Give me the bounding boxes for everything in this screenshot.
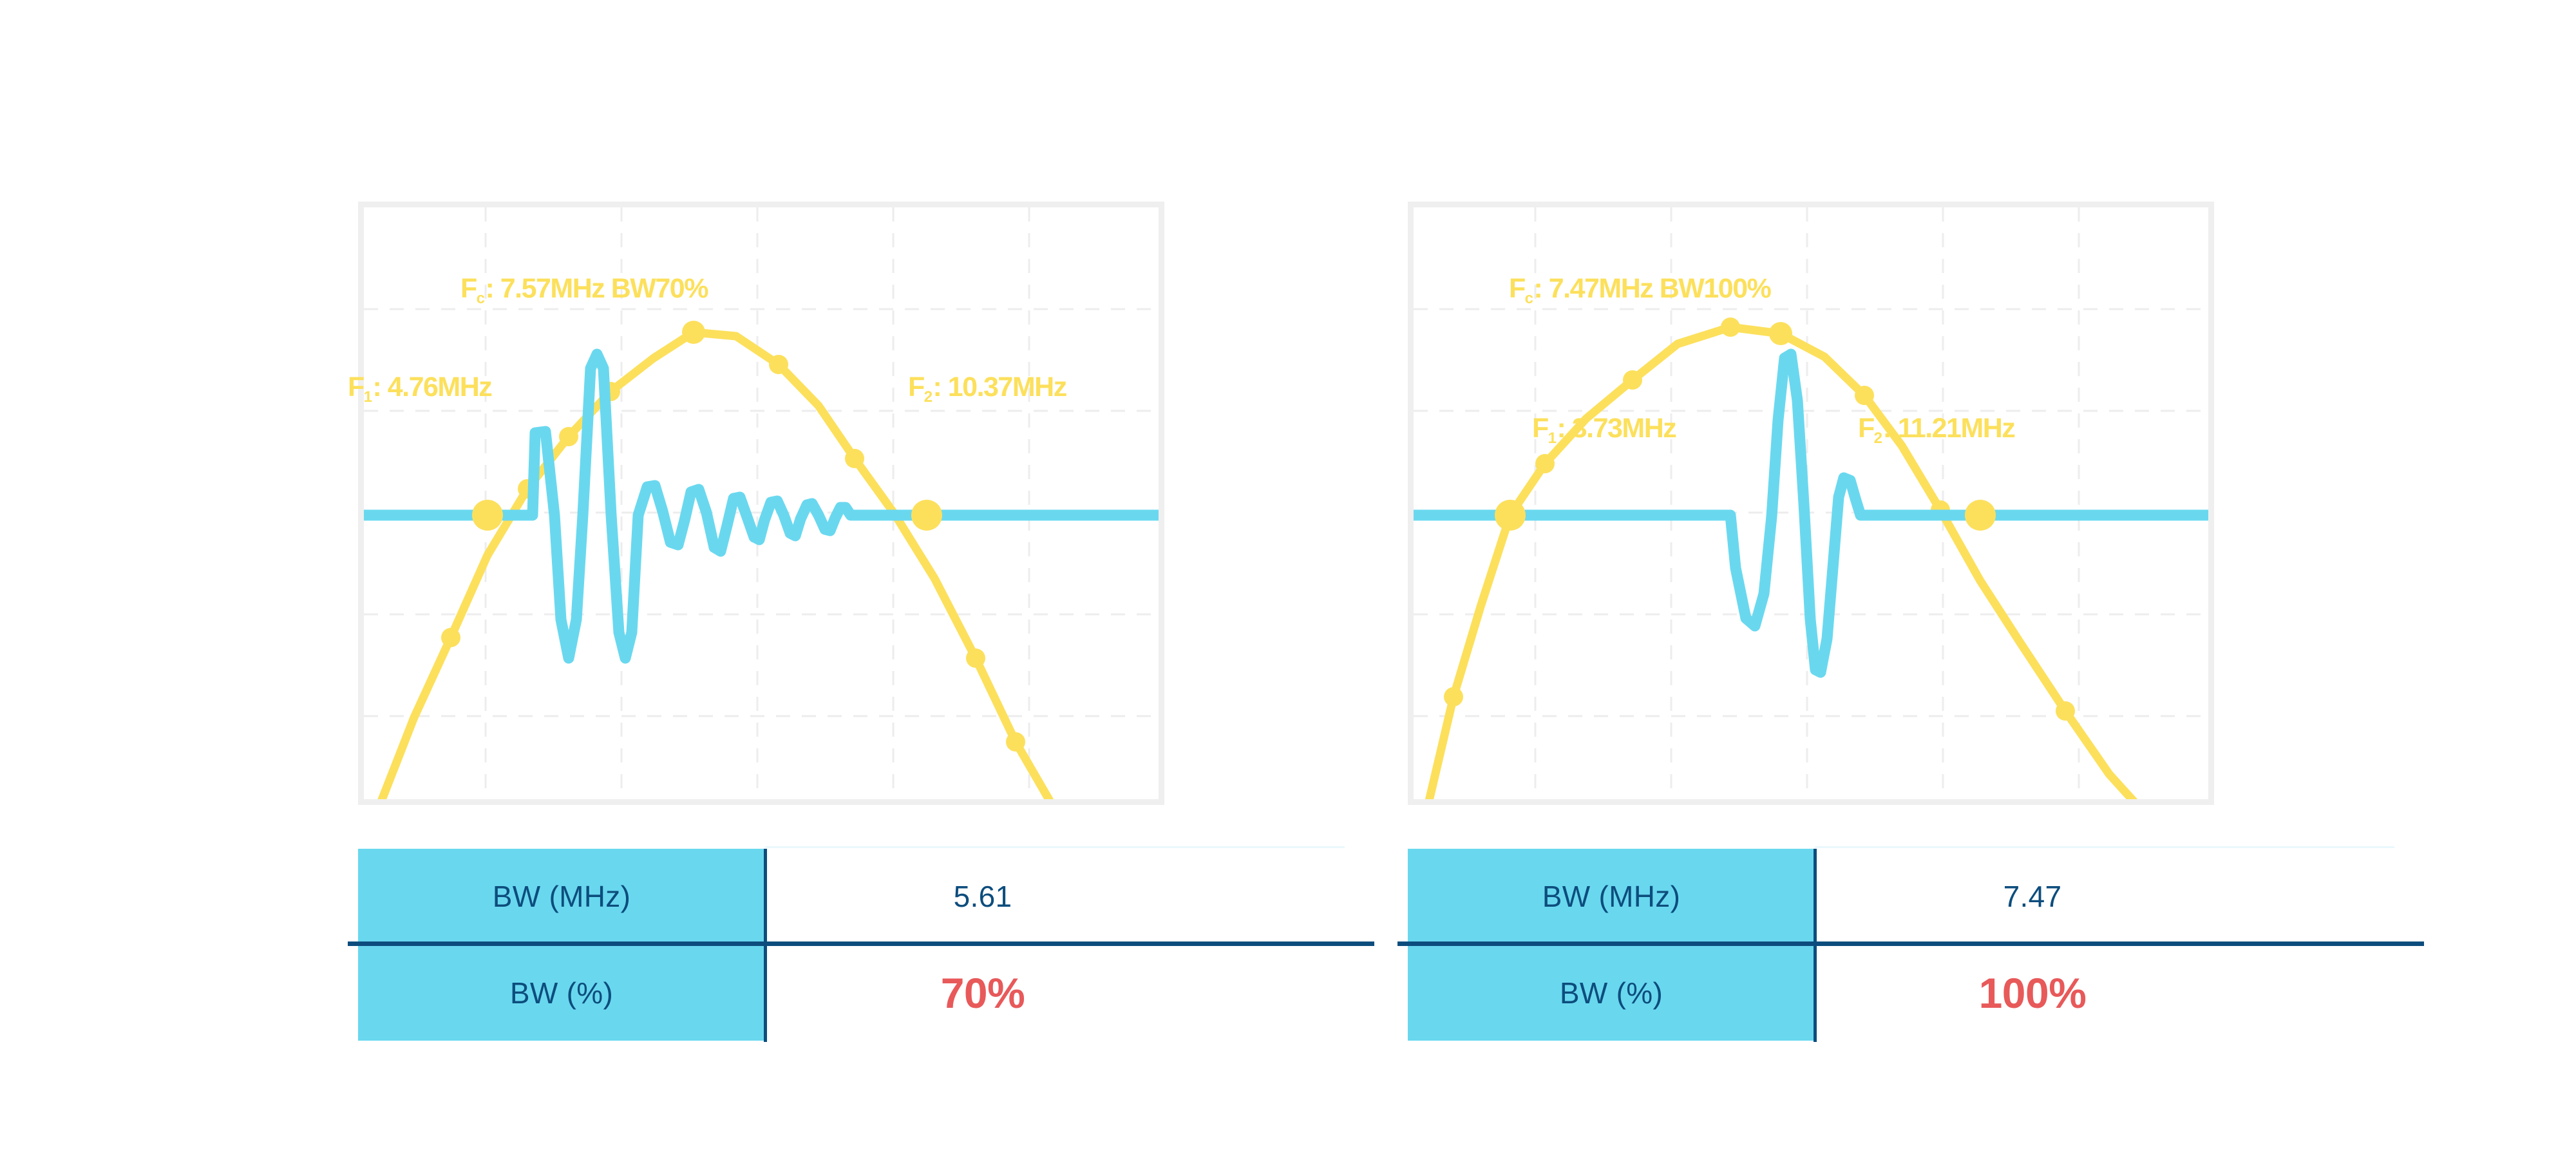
f1-text: : 3.73MHz bbox=[1557, 413, 1676, 444]
annotation-upper-cutoff-right: F2: 11.21MHz bbox=[1858, 415, 2014, 442]
fc-symbol: F bbox=[460, 273, 477, 304]
f1-subscript: 1 bbox=[1548, 430, 1557, 447]
marker-f2 bbox=[1965, 500, 1996, 531]
row-value-bw-percent: 100% bbox=[1815, 945, 2424, 1041]
row-label-bw-mhz: BW (MHz) bbox=[1408, 849, 1815, 944]
annotation-upper-cutoff-left: F2: 10.37MHz bbox=[908, 374, 1066, 401]
row-label-bw-mhz: BW (MHz) bbox=[358, 849, 765, 944]
marker-f1 bbox=[472, 500, 503, 531]
measurement-panel-left: Fc: 7.57MHz BW70% F1: 4.76MHz F2: 10.37M… bbox=[193, 0, 1417, 1154]
annotation-center-frequency-right: Fc: 7.47MHz BW100% bbox=[1509, 275, 1770, 303]
table-row: BW (%) 100% bbox=[1408, 945, 2424, 1041]
f2-text: : 10.37MHz bbox=[933, 372, 1066, 402]
f1-symbol: F bbox=[348, 372, 365, 402]
f2-text: : 11.21MHz bbox=[1882, 413, 2014, 444]
measurement-panel-right: Fc: 7.47MHz BW100% F1: 3.73MHz F2: 11.21… bbox=[1243, 0, 2467, 1154]
fc-text: : 7.57MHz BW70% bbox=[485, 273, 707, 304]
f1-text: : 4.76MHz bbox=[372, 372, 491, 402]
row-value-bw-mhz: 7.47 bbox=[1815, 849, 2424, 944]
spectrum-plot-right: Fc: 7.47MHz BW100% F1: 3.73MHz F2: 11.21… bbox=[1408, 202, 2214, 805]
row-label-bw-percent: BW (%) bbox=[358, 945, 765, 1041]
bandwidth-table-left: BW (MHz) 5.61 BW (%) 70% bbox=[358, 849, 1374, 1042]
f1-symbol: F bbox=[1532, 413, 1549, 444]
bandwidth-table-right: BW (MHz) 7.47 BW (%) 100% bbox=[1408, 849, 2424, 1042]
fc-subscript: c bbox=[1525, 290, 1533, 307]
table-row-divider bbox=[348, 941, 1374, 946]
table-row: BW (MHz) 7.47 bbox=[1408, 849, 2424, 944]
f2-symbol: F bbox=[1858, 413, 1875, 444]
f2-subscript: 2 bbox=[1874, 430, 1882, 447]
annotation-lower-cutoff-left: F1: 4.76MHz bbox=[348, 374, 491, 401]
fc-symbol: F bbox=[1509, 273, 1526, 304]
fc-text: : 7.47MHz BW100% bbox=[1533, 273, 1770, 304]
fc-subscript: c bbox=[477, 290, 485, 307]
f1-subscript: 1 bbox=[364, 388, 372, 406]
table-row: BW (%) 70% bbox=[358, 945, 1374, 1041]
table-row-divider bbox=[1397, 941, 2424, 946]
f2-subscript: 2 bbox=[924, 388, 933, 406]
table-row: BW (MHz) 5.61 bbox=[358, 849, 1374, 944]
marker-f1 bbox=[1495, 500, 1526, 531]
row-label-bw-percent: BW (%) bbox=[1408, 945, 1815, 1041]
marker-f2 bbox=[911, 500, 942, 531]
table-top-hairline bbox=[1815, 846, 2394, 848]
annotation-center-frequency-left: Fc: 7.57MHz BW70% bbox=[460, 275, 708, 303]
annotation-lower-cutoff-right: F1: 3.73MHz bbox=[1532, 415, 1676, 442]
f2-symbol: F bbox=[908, 372, 925, 402]
spectrum-plot-left: Fc: 7.57MHz BW70% F1: 4.76MHz F2: 10.37M… bbox=[358, 202, 1164, 805]
